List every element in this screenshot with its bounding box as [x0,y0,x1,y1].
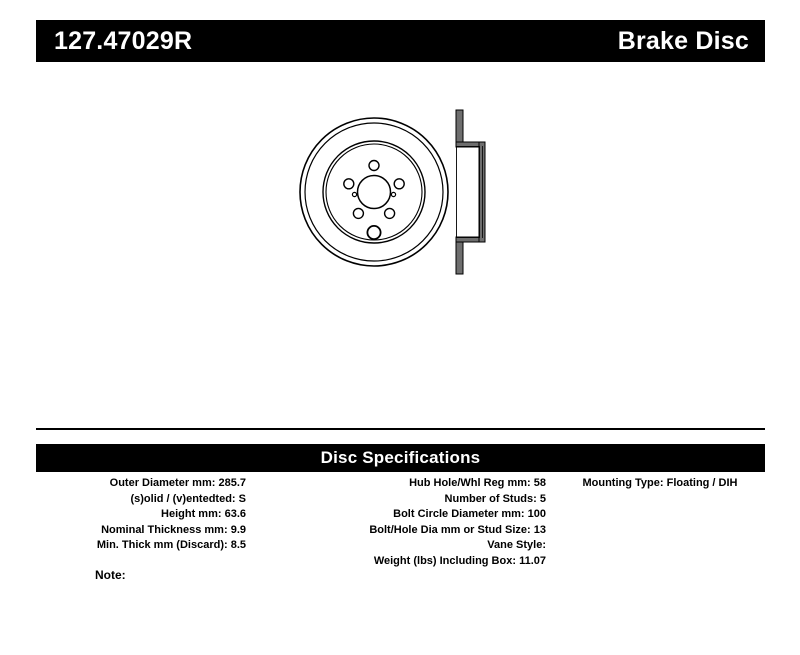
spec-row: Nominal Thickness mm: 9.9 [36,523,246,539]
spec-value: S [239,493,246,505]
stud-hole [369,161,379,171]
spec-label: Weight (lbs) Including Box: [374,555,516,567]
center-hub-hole [358,176,391,209]
spec-label: Vane Style: [487,539,546,551]
spec-table: Outer Diameter mm: 285.7 (s)olid / (v)en… [36,476,776,569]
spec-label: Hub Hole/Whl Reg mm: [409,477,531,489]
spec-row: Outer Diameter mm: 285.7 [36,476,246,492]
spec-column-mounting-details: Hub Hole/Whl Reg mm: 58 Number of Studs:… [246,476,546,569]
spec-row: Weight (lbs) Including Box: 11.07 [246,554,546,570]
spec-row: Bolt/Hole Dia mm or Stud Size: 13 [246,523,546,539]
spec-row: Hub Hole/Whl Reg mm: 58 [246,476,546,492]
spec-section-header: Disc Specifications [36,444,765,472]
rotor-ring-top-flange [456,110,463,144]
section-divider [36,428,765,430]
spec-value: Floating / DIH [667,477,738,489]
spec-column-dimensions: Outer Diameter mm: 285.7 (s)olid / (v)en… [36,476,246,554]
spec-row: Number of Studs: 5 [246,492,546,508]
stud-hole [394,179,404,189]
spec-value: 9.9 [231,524,246,536]
product-drawing-area [0,70,800,415]
spec-label: Number of Studs: [445,493,537,505]
stud-hole [385,208,395,218]
part-number-label: 127.47029R [54,27,192,56]
spec-value: 5 [540,493,546,505]
rotor-profile-svg [452,106,494,278]
spec-row: Min. Thick mm (Discard): 8.5 [36,538,246,554]
spec-label: Min. Thick mm (Discard): [97,539,228,551]
spec-value: 63.6 [225,508,246,520]
header-bar: 127.47029R Brake Disc [36,20,765,62]
spec-value: 285.7 [218,477,246,489]
spec-label: (s)olid / (v)entedted: [130,493,235,505]
spec-value: 100 [528,508,546,520]
rotor-ring-bottom-flange [456,240,463,274]
spec-label: Height mm: [161,508,222,520]
extraction-hole [367,226,380,239]
spec-value: 13 [534,524,546,536]
stud-hole [344,179,354,189]
spec-value: 11.07 [519,555,546,567]
brake-rotor-cross-section-view [452,106,494,283]
spec-row: Vane Style: [246,538,546,554]
rotor-outer-edge-circle [300,118,448,266]
spec-section-title: Disc Specifications [321,448,481,468]
spec-row: Mounting Type: Floating / DIH [546,476,774,492]
spec-label: Bolt Circle Diameter mm: [393,508,524,520]
rotor-hat-cavity-outline [457,147,480,238]
spec-value: 8.5 [231,539,246,551]
note-label: Note: [95,568,126,582]
product-type-label: Brake Disc [618,27,749,56]
spec-column-mounting-type: Mounting Type: Floating / DIH [546,476,774,492]
alignment-pin-hole [352,192,356,196]
spec-label: Nominal Thickness mm: [101,524,228,536]
rotor-hat-outer-circle [323,141,425,243]
brake-rotor-face-view [298,114,450,275]
rotor-face-svg [298,114,450,270]
spec-row: Bolt Circle Diameter mm: 100 [246,507,546,523]
spec-value: 58 [534,477,546,489]
spec-label: Bolt/Hole Dia mm or Stud Size: [369,524,530,536]
stud-hole [353,208,363,218]
spec-row: Height mm: 63.6 [36,507,246,523]
spec-row: (s)olid / (v)entedted: S [36,492,246,508]
alignment-pin-hole [391,192,395,196]
note-section: Note: [95,568,126,582]
spec-label: Mounting Type: [582,477,663,489]
spec-label: Outer Diameter mm: [110,477,216,489]
